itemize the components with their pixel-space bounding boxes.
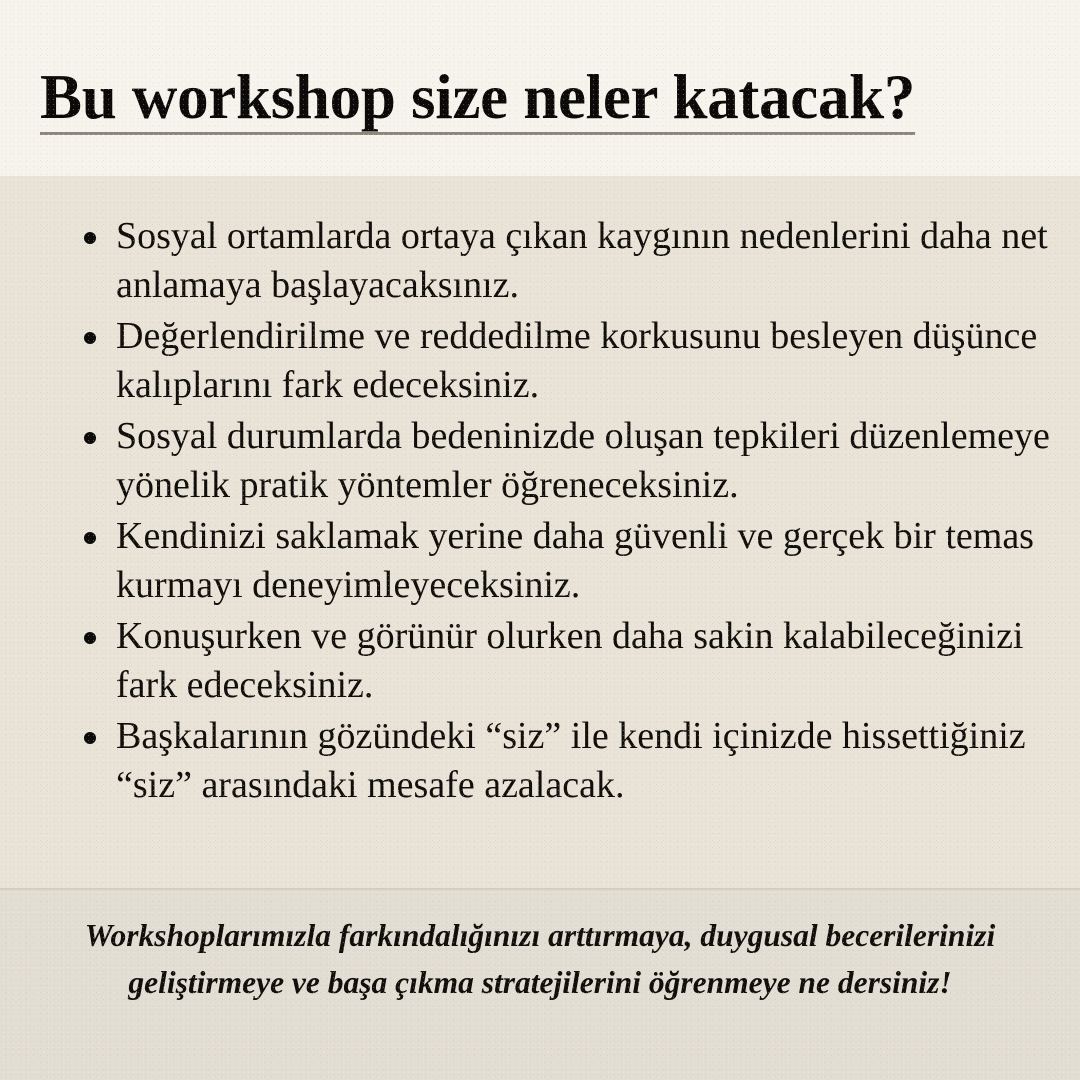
list-item-text: Sosyal ortamlarda ortaya çıkan kaygının … (116, 215, 1048, 306)
list-item-text: Değerlendirilme ve reddedilme korkusunu … (116, 315, 1037, 406)
list-item: Değerlendirilme ve reddedilme korkusunu … (74, 312, 1056, 410)
list-item-text: Kendinizi saklamak yerine daha güvenli v… (116, 515, 1034, 606)
list-item-text: Konuşurken ve görünür olurken daha sakin… (116, 615, 1024, 706)
bullet-dot-icon (84, 332, 96, 344)
list-item: Sosyal durumlarda bedeninizde oluşan tep… (74, 412, 1056, 510)
header-band: Bu workshop size neler katacak? (0, 0, 1080, 176)
list-item-text: Sosyal durumlarda bedeninizde oluşan tep… (116, 415, 1050, 506)
list-item: Kendinizi saklamak yerine daha güvenli v… (74, 512, 1056, 610)
slide-root: Bu workshop size neler katacak? Sosyal o… (0, 0, 1080, 1080)
page-title: Bu workshop size neler katacak? (40, 66, 1040, 129)
list-item: Sosyal ortamlarda ortaya çıkan kaygının … (74, 212, 1056, 310)
title-wrap: Bu workshop size neler katacak? (40, 66, 1040, 129)
body-band: Sosyal ortamlarda ortaya çıkan kaygının … (0, 176, 1080, 888)
bullet-dot-icon (84, 632, 96, 644)
bullet-dot-icon (84, 232, 96, 244)
benefits-list: Sosyal ortamlarda ortaya çıkan kaygının … (74, 212, 1056, 812)
list-item: Başkalarının gözündeki “siz” ile kendi i… (74, 712, 1056, 810)
footer-band: Workshoplarımızla farkındalığınızı arttı… (0, 888, 1080, 1080)
list-item-text: Başkalarının gözündeki “siz” ile kendi i… (116, 715, 1026, 806)
bullet-dot-icon (84, 432, 96, 444)
footer-callout-text: Workshoplarımızla farkındalığınızı arttı… (50, 912, 1030, 1006)
bullet-dot-icon (84, 532, 96, 544)
list-item: Konuşurken ve görünür olurken daha sakin… (74, 612, 1056, 710)
bullet-dot-icon (84, 732, 96, 744)
